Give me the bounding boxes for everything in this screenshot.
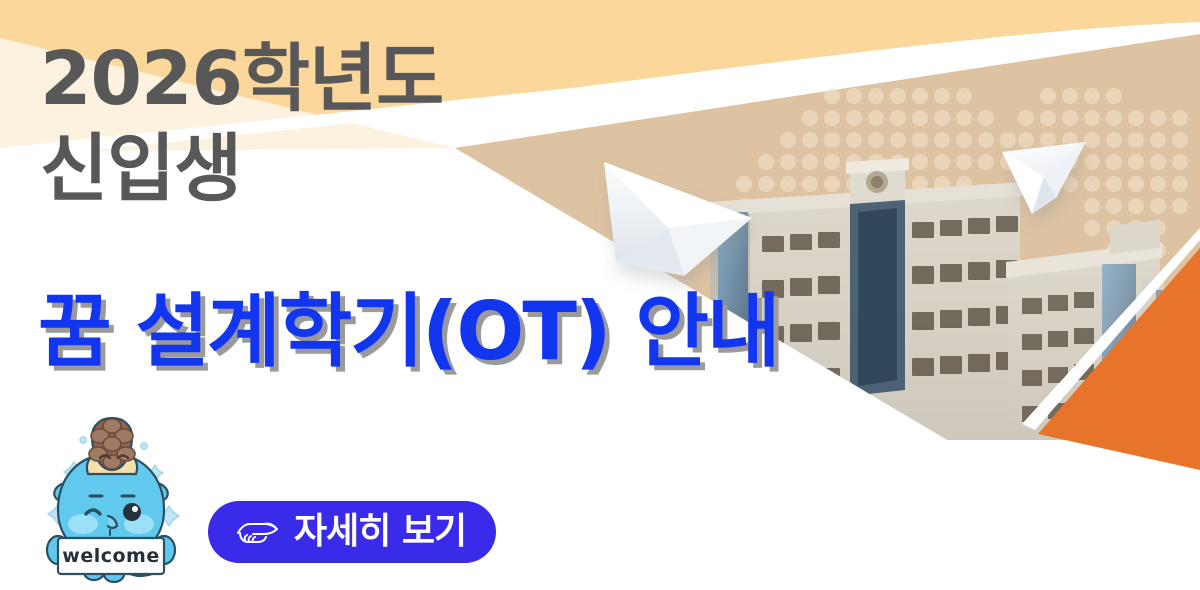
page-title: 꿈 설계학기(OT) 안내	[38, 292, 779, 372]
paper-plane-right-icon	[1002, 142, 1086, 214]
headline-line-1: 2026학년도	[40, 34, 680, 124]
headline-group: 2026학년도 신입생	[40, 34, 680, 215]
detail-view-label: 자세히 보기	[294, 514, 466, 550]
promo-banner: 2026학년도 신입생 꿈 설계학기(OT) 안내	[0, 0, 1200, 590]
detail-view-button[interactable]: 자세히 보기	[208, 501, 496, 563]
headline-line-2: 신입생	[40, 124, 680, 214]
pinecone-hat	[87, 418, 137, 474]
mascot-character: welcome	[26, 412, 196, 590]
welcome-sign-text: welcome	[62, 545, 159, 567]
pointing-hand-icon	[234, 515, 280, 549]
